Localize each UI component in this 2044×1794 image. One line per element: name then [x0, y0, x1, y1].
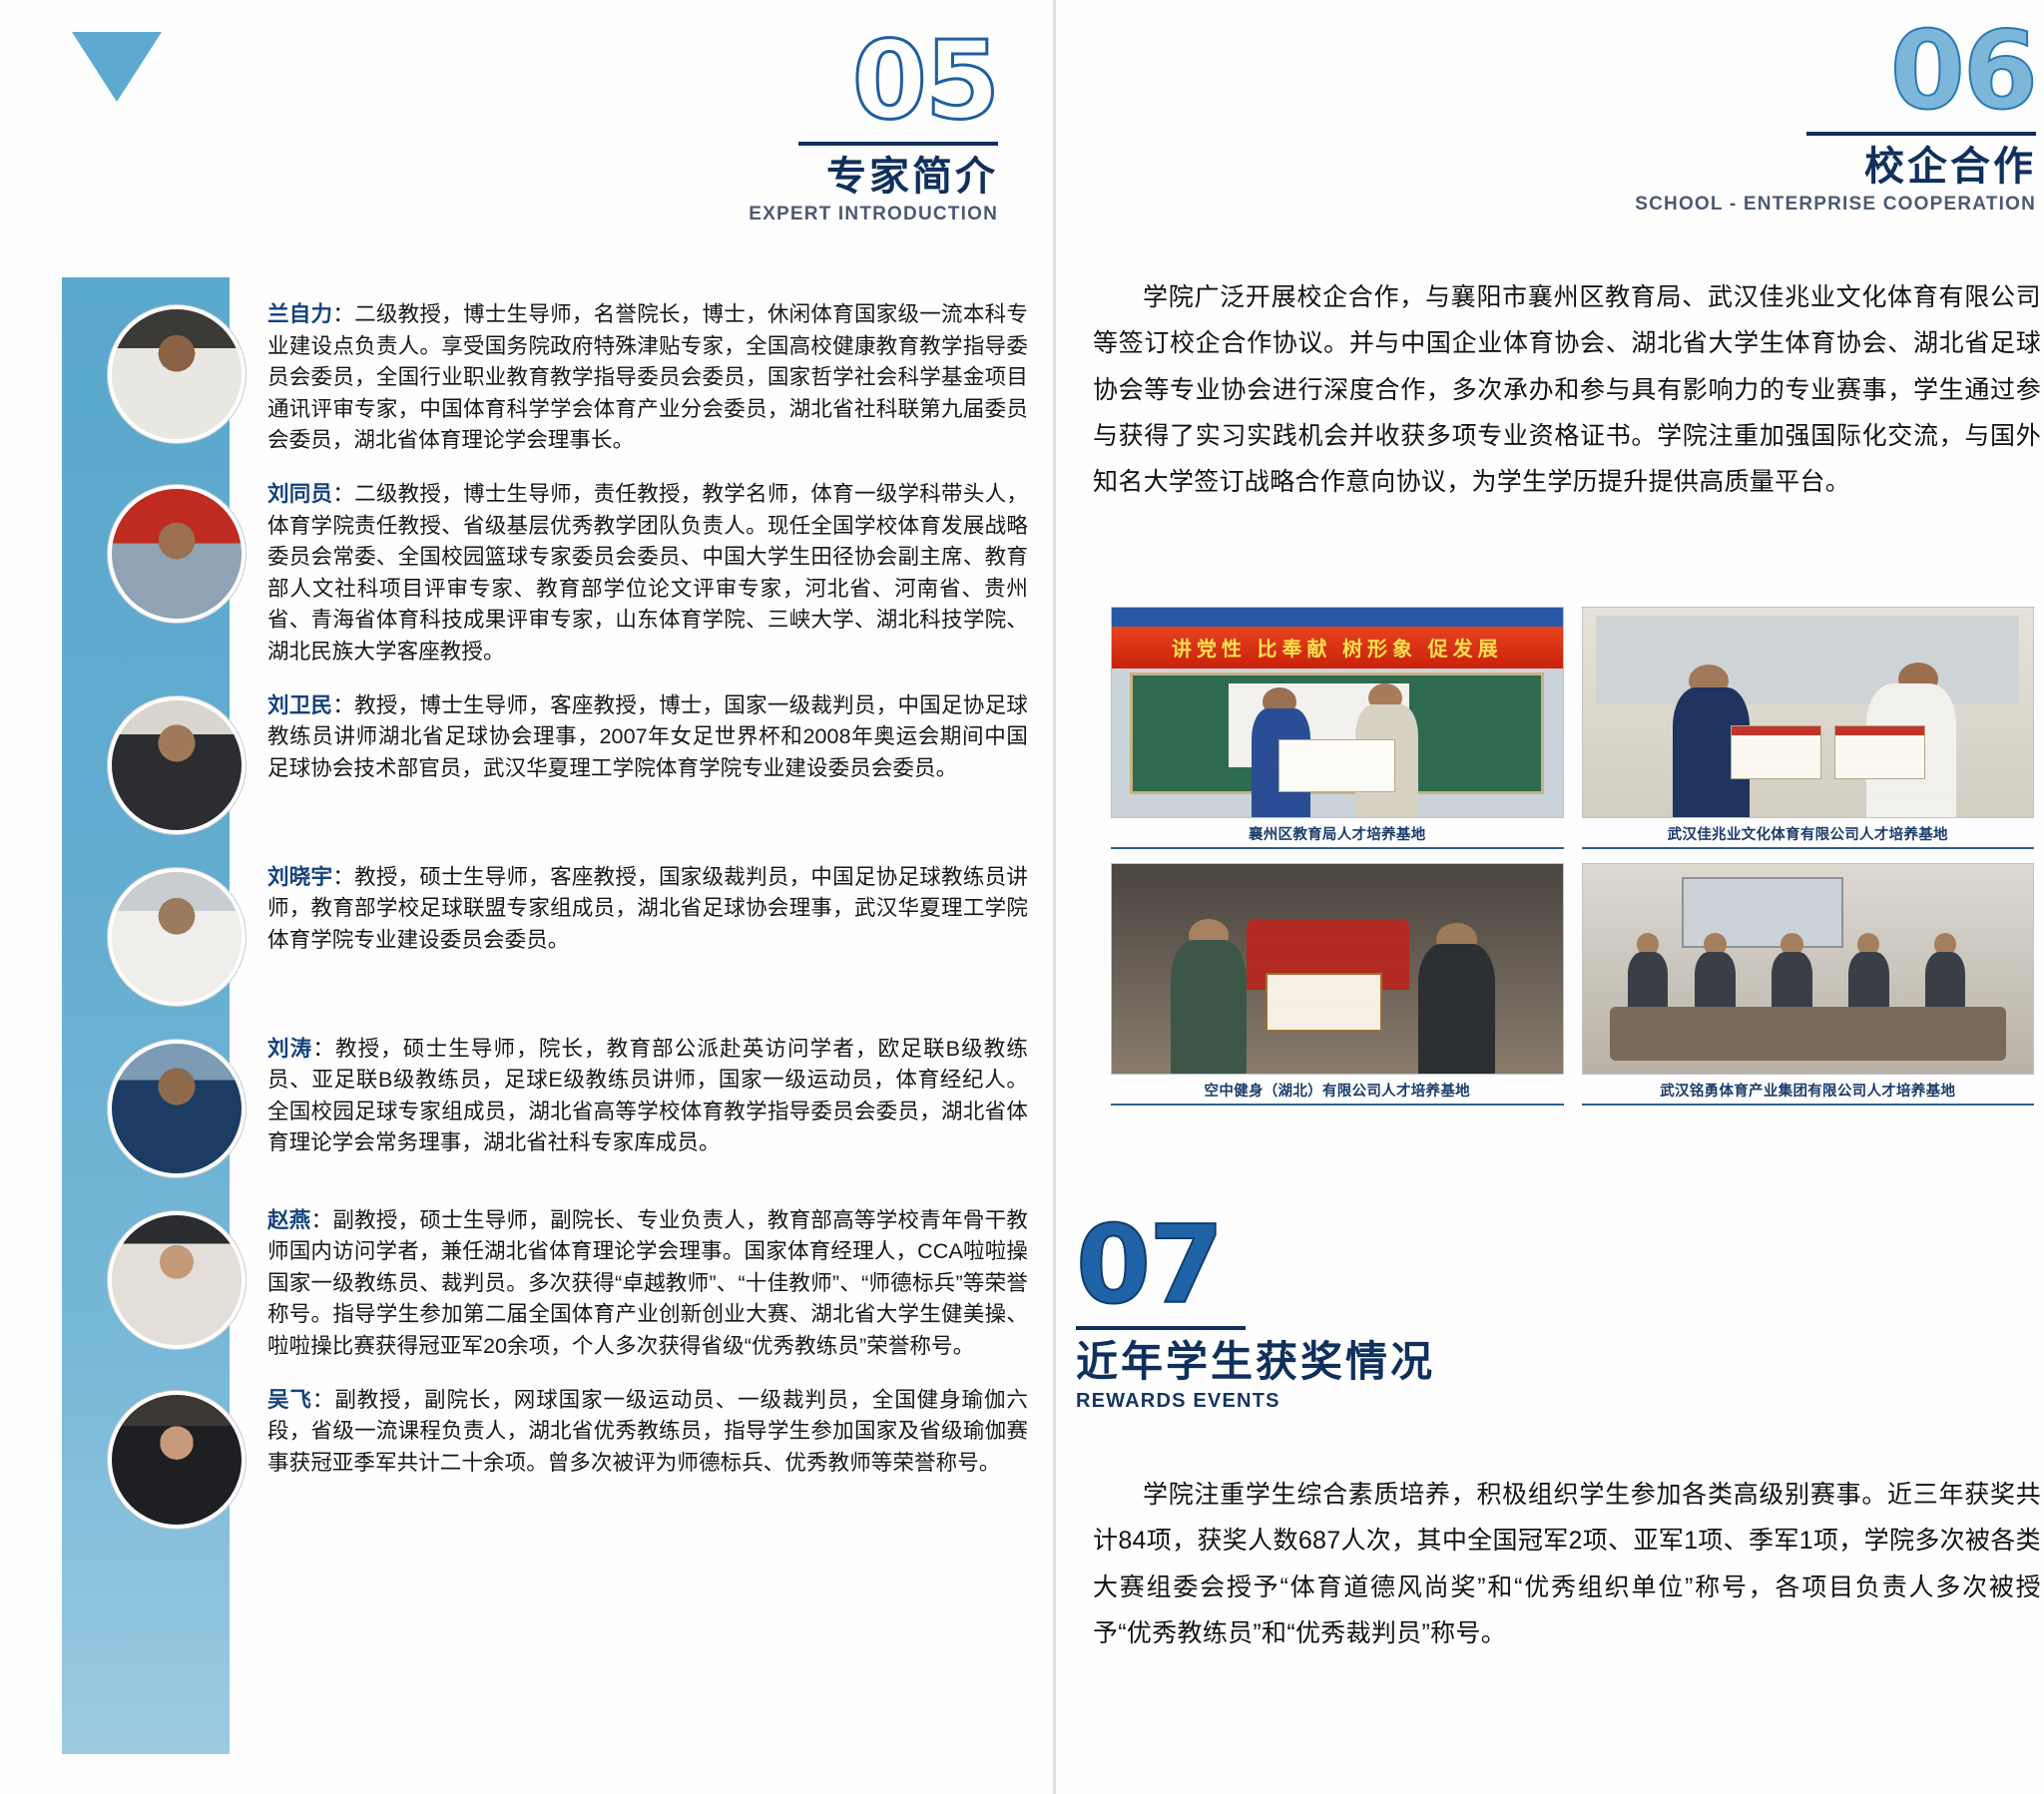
expert-name: 刘同员	[267, 482, 332, 506]
photo-plaque-unveiling	[1111, 863, 1564, 1075]
avatar	[100, 1205, 250, 1355]
section-title-en: SCHOOL - ENTERPRISE COOPERATION	[1577, 194, 2036, 216]
expert-bio: 刘同员：二级教授，博士生导师，责任教授，教学名师，体育一级学科带头人，体育学院责…	[267, 479, 1028, 669]
expert-item: 刘同员：二级教授，博士生导师，责任教授，教学名师，体育一级学科带头人，体育学院责…	[100, 479, 1028, 669]
expert-bio-text: 教授，硕士生导师，客座教授，国家级裁判员，中国足协足球教练员讲师，教育部学校足球…	[267, 865, 1028, 952]
expert-item: 刘卫民：教授，博士生导师，客座教授，博士，国家一级裁判员，中国足协足球教练员讲师…	[100, 690, 1028, 840]
expert-item: 刘晓宇：教授，硕士生导师，客座教授，国家级裁判员，中国足协足球教练员讲师，教育部…	[100, 862, 1028, 1012]
expert-name: 刘卫民	[267, 693, 332, 717]
photo-certificate-exchange	[1582, 607, 2035, 818]
expert-bio: 刘涛：教授，硕士生导师，院长，教育部公派赴英访问学者，欧足联B级教练员、亚足联B…	[267, 1034, 1028, 1159]
expert-bio-text: 副教授，副院长，网球国家一级运动员、一级裁判员，全国健身瑜伽六段，省级一流课程负…	[267, 1388, 1028, 1475]
expert-name: 吴飞	[267, 1388, 312, 1412]
down-triangle-icon	[72, 32, 162, 102]
expert-colon: ：	[332, 482, 354, 506]
section-title-cn: 近年学生获奖情况	[1076, 1338, 1595, 1386]
expert-bio: 兰自力：二级教授，博士生导师，名誉院长，博士，休闲体育国家级一流本科专业建设点负…	[267, 299, 1028, 457]
cooperation-paragraph: 学院广泛开展校企合作，与襄阳市襄州区教育局、武汉佳兆业文化体育有限公司等签订校企…	[1093, 274, 2041, 505]
expert-bio-text: 二级教授，博士生导师，责任教授，教学名师，体育一级学科带头人，体育学院责任教授、…	[267, 482, 1028, 664]
photo-conference-meeting	[1582, 863, 2035, 1075]
expert-colon: ：	[332, 865, 354, 889]
expert-colon: ：	[312, 1037, 335, 1061]
expert-item: 吴飞：副教授，副院长，网球国家一级运动员、一级裁判员，全国健身瑜伽六段，省级一流…	[100, 1385, 1028, 1535]
avatar	[100, 862, 250, 1012]
photo-banner-text: 讲党性 比奉献 树形象 促发展	[1172, 633, 1503, 662]
expert-name: 赵燕	[267, 1208, 311, 1232]
column-divider	[1053, 0, 1056, 1794]
partnership-photo-grid: 讲党性 比奉献 树形象 促发展 襄州区教育局人才培养基地 武汉佳兆业文化体育有	[1111, 607, 2034, 1106]
section-title-cn: 校企合作	[1577, 144, 2036, 190]
photo-cell: 武汉铭勇体育产业集团有限公司人才培养基地	[1582, 863, 2035, 1106]
expert-item: 刘涛：教授，硕士生导师，院长，教育部公派赴英访问学者，欧足联B级教练员、亚足联B…	[100, 1034, 1028, 1183]
expert-bio: 刘卫民：教授，博士生导师，客座教授，博士，国家一级裁判员，中国足协足球教练员讲师…	[267, 690, 1028, 785]
photo-caption: 武汉佳兆业文化体育有限公司人才培养基地	[1582, 818, 2035, 849]
expert-bio-text: 副教授，硕士生导师，副院长、专业负责人，教育部高等学校青年骨干教师国内访问学者，…	[267, 1208, 1028, 1358]
photo-cell: 讲党性 比奉献 树形象 促发展 襄州区教育局人才培养基地	[1111, 607, 1564, 849]
expert-list: 兰自力：二级教授，博士生导师，名誉院长，博士，休闲体育国家级一流本科专业建设点负…	[100, 299, 1028, 1557]
brochure-page: 05 专家简介 EXPERT INTRODUCTION 06 校企合作 SCHO…	[0, 0, 2044, 1794]
rewards-paragraph-container: 学院注重学生综合素质培养，积极组织学生参加各类高级别赛事。近三年获奖共计84项，…	[1093, 1472, 2041, 1656]
section-07-header: 07 近年学生获奖情况 REWARDS EVENTS	[1076, 1212, 1595, 1413]
section-number: 07	[1076, 1212, 1595, 1320]
expert-colon: ：	[312, 1388, 334, 1412]
section-05-header: 05 专家简介 EXPERT INTRODUCTION	[599, 28, 998, 225]
photo-cell: 空中健身（湖北）有限公司人才培养基地	[1111, 863, 1564, 1106]
photo-cell: 武汉佳兆业文化体育有限公司人才培养基地	[1582, 607, 2035, 849]
avatar	[100, 299, 250, 449]
avatar	[100, 1385, 250, 1535]
photo-caption: 空中健身（湖北）有限公司人才培养基地	[1111, 1075, 1564, 1106]
avatar	[100, 479, 250, 629]
expert-name: 刘涛	[267, 1037, 312, 1061]
photo-caption: 襄州区教育局人才培养基地	[1111, 818, 1564, 849]
expert-bio: 吴飞：副教授，副院长，网球国家一级运动员、一级裁判员，全国健身瑜伽六段，省级一流…	[267, 1385, 1028, 1480]
section-06-header: 06 校企合作 SCHOOL - ENTERPRISE COOPERATION	[1577, 18, 2036, 216]
expert-colon: ：	[311, 1208, 333, 1232]
expert-name: 刘晓宇	[267, 865, 332, 889]
section-title-en: REWARDS EVENTS	[1076, 1390, 1595, 1413]
expert-bio: 刘晓宇：教授，硕士生导师，客座教授，国家级裁判员，中国足协足球教练员讲师，教育部…	[267, 862, 1028, 957]
section-title-cn: 专家简介	[599, 154, 998, 200]
expert-bio-text: 教授，博士生导师，客座教授，博士，国家一级裁判员，中国足协足球教练员讲师湖北省足…	[267, 693, 1028, 780]
expert-item: 赵燕：副教授，硕士生导师，副院长、专业负责人，教育部高等学校青年骨干教师国内访问…	[100, 1205, 1028, 1363]
expert-bio: 赵燕：副教授，硕士生导师，副院长、专业负责人，教育部高等学校青年骨干教师国内访问…	[267, 1205, 1028, 1363]
expert-colon: ：	[332, 302, 354, 326]
section-number: 05	[599, 28, 998, 136]
expert-bio-text: 教授，硕士生导师，院长，教育部公派赴英访问学者，欧足联B级教练员、亚足联B级教练…	[267, 1037, 1028, 1155]
avatar	[100, 690, 250, 840]
expert-bio-text: 二级教授，博士生导师，名誉院长，博士，休闲体育国家级一流本科专业建设点负责人。享…	[267, 302, 1028, 452]
photo-signing-ceremony: 讲党性 比奉献 树形象 促发展	[1111, 607, 1564, 818]
section-title-en: EXPERT INTRODUCTION	[599, 204, 998, 225]
rewards-paragraph: 学院注重学生综合素质培养，积极组织学生参加各类高级别赛事。近三年获奖共计84项，…	[1093, 1472, 2041, 1656]
expert-name: 兰自力	[267, 302, 332, 326]
section-number: 06	[1577, 18, 2036, 126]
cooperation-paragraph-container: 学院广泛开展校企合作，与襄阳市襄州区教育局、武汉佳兆业文化体育有限公司等签订校企…	[1093, 274, 2041, 505]
expert-colon: ：	[332, 693, 354, 717]
expert-item: 兰自力：二级教授，博士生导师，名誉院长，博士，休闲体育国家级一流本科专业建设点负…	[100, 299, 1028, 457]
avatar	[100, 1034, 250, 1183]
photo-caption: 武汉铭勇体育产业集团有限公司人才培养基地	[1582, 1075, 2035, 1106]
